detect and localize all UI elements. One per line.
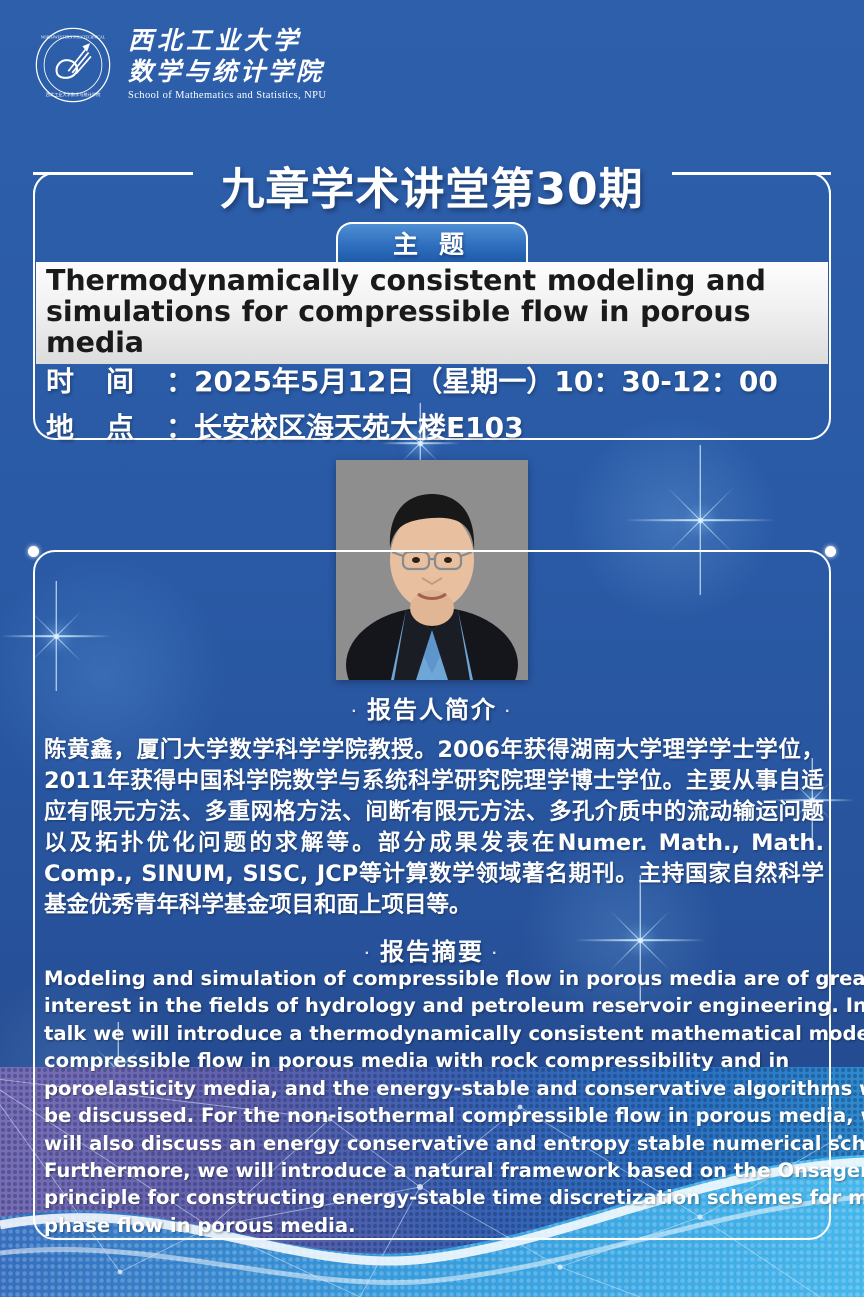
topic-badge-label: 主 题 bbox=[393, 225, 471, 261]
info-label-time: 时间： bbox=[46, 360, 194, 400]
frame-node-right-icon bbox=[825, 546, 836, 557]
heading-dot-right-icon: · bbox=[505, 703, 512, 720]
info-value-time: 2025年5月12日（星期一）10：30-12：00 bbox=[194, 360, 778, 400]
frame-node-left-icon bbox=[28, 546, 39, 557]
heading-dot-left-icon: · bbox=[352, 703, 359, 720]
poster-header: NORTHWESTERN POLYTECHNICAL 西北工业大学数学与统计学院… bbox=[0, 0, 864, 130]
speaker-bio: 陈黄鑫，厦门大学数学科学学院教授。2006年获得湖南大学理学学士学位，2011年… bbox=[44, 735, 824, 921]
abstract-line: will also discuss an energy conservative… bbox=[44, 1130, 830, 1157]
section-heading-abstract-label: 报告摘要 bbox=[380, 939, 484, 966]
npu-seal-icon: NORTHWESTERN POLYTECHNICAL 西北工业大学数学与统计学院 bbox=[34, 26, 112, 104]
abstract-line: interest in the fields of hydrology and … bbox=[44, 992, 830, 1019]
heading-dot-right-icon: · bbox=[492, 945, 499, 962]
abstract-line: compressible flow in porous media with r… bbox=[44, 1047, 830, 1074]
event-info: 时间： 2025年5月12日（星期一）10：30-12：00 地点： 长安校区海… bbox=[46, 360, 826, 452]
abstract-line: be discussed. For the non-isothermal com… bbox=[44, 1102, 830, 1129]
university-name-cn: 西北工业大学 bbox=[128, 29, 326, 54]
abstract-line: phase flow in porous media. bbox=[44, 1212, 830, 1239]
school-name-en: School of Mathematics and Statistics, NP… bbox=[128, 91, 326, 102]
info-label-venue: 地点： bbox=[46, 406, 194, 446]
abstract-line: poroelasticity media, and the energy-sta… bbox=[44, 1075, 830, 1102]
talk-title: Thermodynamically consistent modeling an… bbox=[46, 266, 818, 358]
abstract-line: talk we will introduce a thermodynamical… bbox=[44, 1020, 830, 1047]
poster-canvas: NORTHWESTERN POLYTECHNICAL 西北工业大学数学与统计学院… bbox=[0, 0, 864, 1297]
info-value-venue: 长安校区海天苑大楼E103 bbox=[194, 406, 524, 446]
talk-title-bar: Thermodynamically consistent modeling an… bbox=[36, 262, 828, 364]
school-name-cn: 数学与统计学院 bbox=[128, 60, 326, 85]
section-heading-bio-label: 报告人简介 bbox=[367, 697, 497, 724]
abstract-line: Furthermore, we will introduce a natural… bbox=[44, 1157, 830, 1184]
heading-dot-left-icon: · bbox=[365, 945, 372, 962]
abstract-line: Modeling and simulation of compressible … bbox=[44, 965, 830, 992]
svg-text:西北工业大学数学与统计学院: 西北工业大学数学与统计学院 bbox=[46, 91, 101, 98]
info-row-venue: 地点： 长安校区海天苑大楼E103 bbox=[46, 406, 826, 446]
abstract-line: principle for constructing energy-stable… bbox=[44, 1184, 830, 1211]
section-heading-abstract: ·报告摘要· bbox=[0, 932, 864, 967]
topic-badge: 主 题 bbox=[336, 222, 528, 262]
topic-badge-wrap: 主 题 bbox=[0, 222, 864, 262]
talk-abstract: Modeling and simulation of compressible … bbox=[44, 965, 830, 1239]
section-heading-bio: ·报告人简介· bbox=[0, 690, 864, 725]
page-title: 九章学术讲堂第30期 bbox=[0, 153, 864, 217]
info-row-time: 时间： 2025年5月12日（星期一）10：30-12：00 bbox=[46, 360, 826, 400]
svg-text:NORTHWESTERN POLYTECHNICAL: NORTHWESTERN POLYTECHNICAL bbox=[41, 35, 106, 39]
